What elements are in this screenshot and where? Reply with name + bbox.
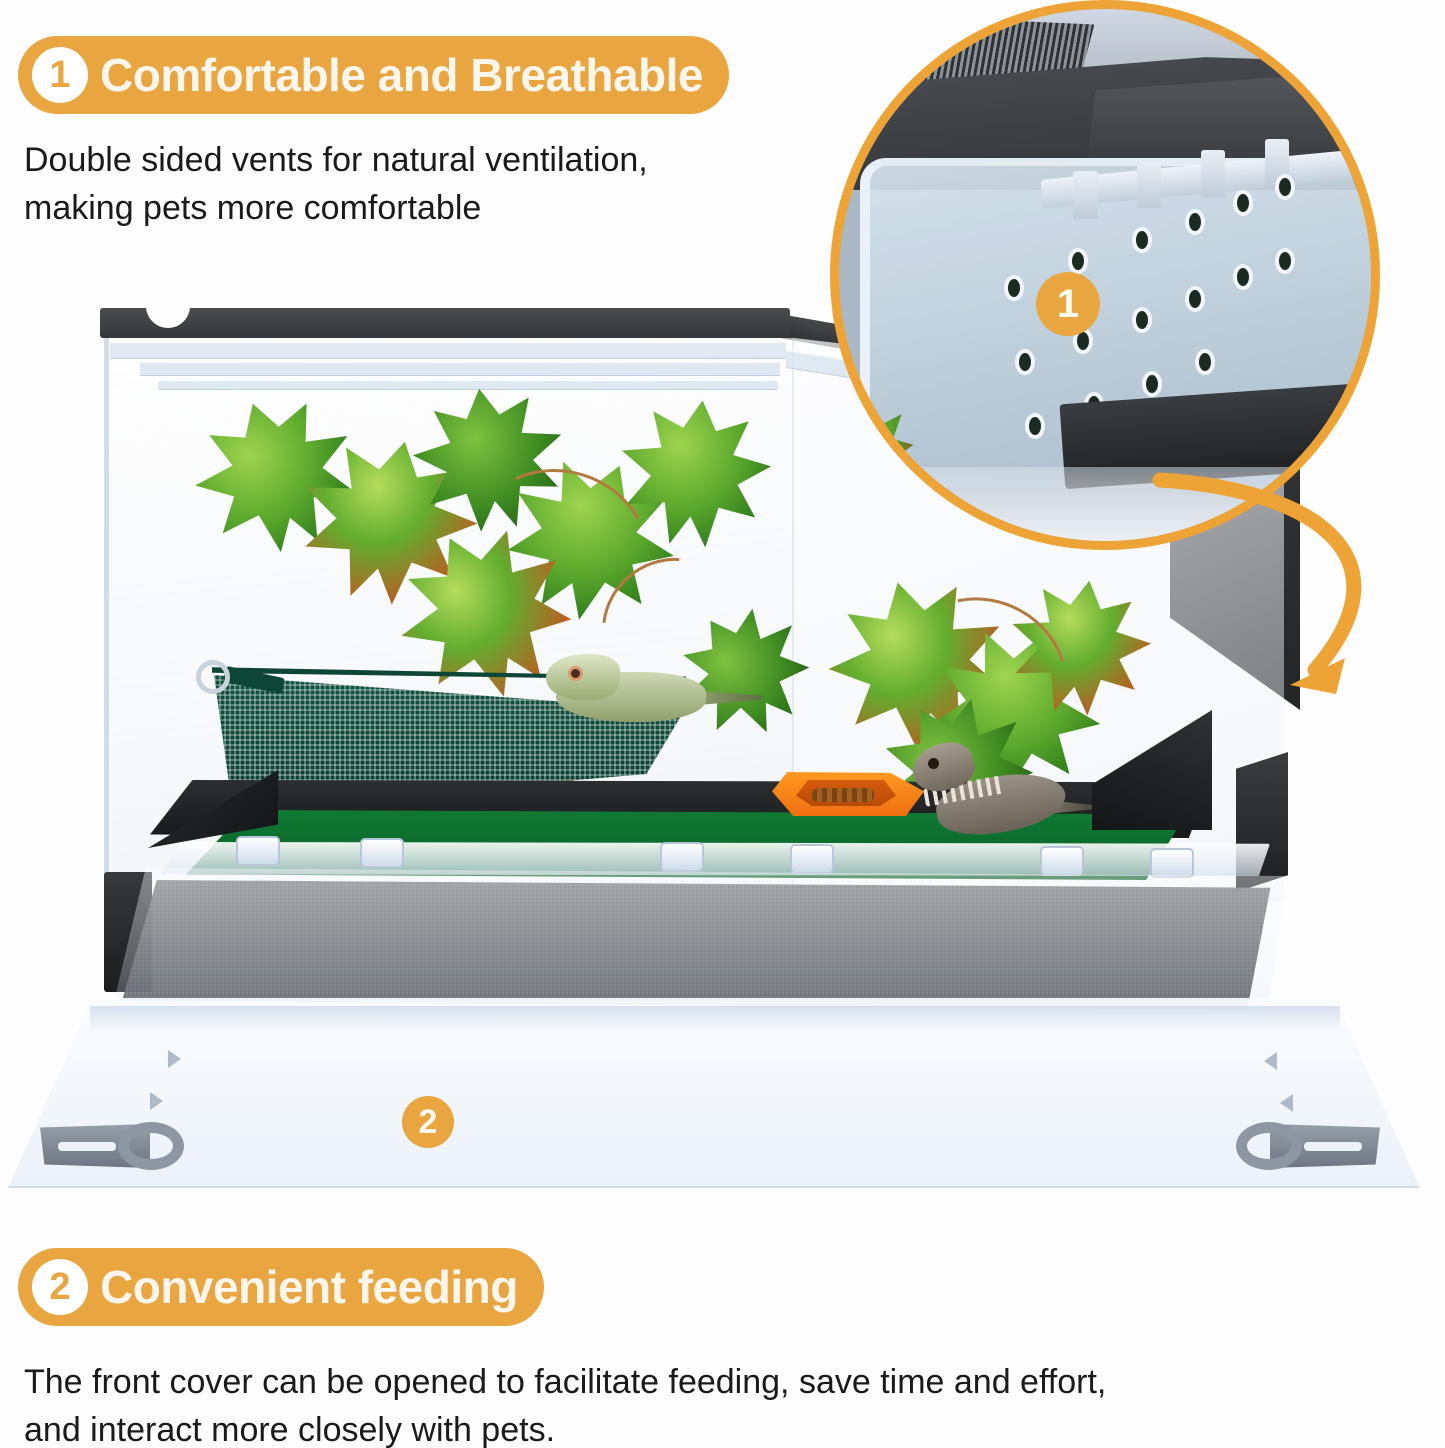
hinge-clip (360, 838, 404, 868)
feature-1-number-badge: 1 (32, 47, 88, 103)
lid-hook-icon (1073, 171, 1097, 219)
top-lid-rail (100, 308, 790, 338)
lid-frame-strip-a (110, 342, 786, 359)
latch-slot (58, 1142, 116, 1151)
corner-arrow-mark (1264, 1052, 1277, 1070)
lizard-on-hammock (546, 646, 746, 738)
callout-pointer-arrow (1140, 470, 1440, 730)
feature-1-description: Double sided vents for natural ventilati… (24, 136, 784, 233)
feature-2-title: Convenient feeding (100, 1260, 518, 1314)
ventilation-hole (1068, 248, 1088, 274)
ventilation-hole (1185, 209, 1205, 235)
feature-1-banner: 1 Comfortable and Breathable (18, 36, 729, 114)
ventilation-hole (1015, 349, 1035, 375)
lid-frame-strip-b (140, 362, 780, 376)
hinge-clip (790, 844, 834, 874)
feature-2-banner: 2 Convenient feeding (18, 1248, 544, 1326)
hinge-clip (1040, 846, 1084, 876)
front-cover-latch-right[interactable] (1190, 1118, 1380, 1174)
ventilation-hole (1185, 286, 1205, 312)
lid-hook-icon (1201, 150, 1225, 198)
front-cover-latch-left[interactable] (40, 1118, 230, 1174)
lizard-on-floor (900, 742, 1090, 852)
lizard-eye (568, 666, 583, 681)
lid-frame-strip-c (158, 380, 778, 390)
latch-ring (118, 1122, 184, 1170)
front-cover-highlight (90, 1006, 1340, 1032)
lid-hook-icon (1137, 161, 1161, 209)
hammock-suction-ring (196, 660, 230, 694)
corner-arrow-mark (168, 1050, 181, 1068)
vent-detail-callout (830, 0, 1380, 550)
ventilation-hole (1004, 275, 1024, 301)
ventilation-hole (1142, 371, 1162, 397)
ventilation-hole (1233, 264, 1253, 290)
feature-2-number-badge: 2 (32, 1259, 88, 1315)
corner-arrow-mark (1280, 1094, 1293, 1112)
corner-arrow-mark (150, 1092, 163, 1110)
ventilation-hole (1132, 227, 1152, 253)
lizard-eye (928, 758, 939, 769)
lizard-head (546, 654, 620, 700)
front-cover-number-badge: 2 (402, 1096, 454, 1148)
callout-number-badge: 1 (1036, 272, 1100, 336)
infographic-canvas: 1 Comfortable and Breathable Double side… (0, 0, 1445, 1448)
latch-ring (1236, 1122, 1302, 1170)
hinge-clip (236, 836, 280, 866)
ventilation-hole (1233, 190, 1253, 216)
dish-food (812, 788, 874, 802)
feature-1-title: Comfortable and Breathable (100, 48, 703, 102)
ventilation-hole (1132, 307, 1152, 333)
hinge-clip (660, 842, 704, 872)
feature-2-description: The front cover can be opened to facilit… (24, 1358, 1354, 1448)
latch-slot (1304, 1142, 1362, 1151)
hinge-clip (1150, 848, 1194, 878)
